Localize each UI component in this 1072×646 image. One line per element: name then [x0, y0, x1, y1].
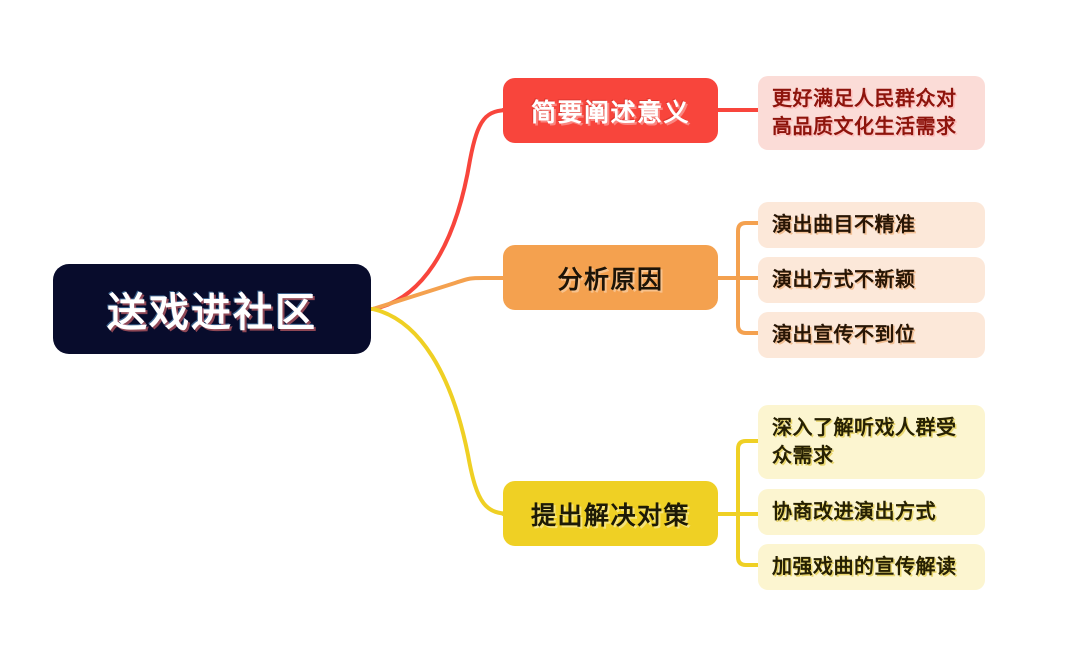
leaf-node-3-2-label: 协商改进演出方式	[772, 498, 936, 526]
connector-branch-3-spine	[738, 441, 758, 565]
leaf-node-3-1[interactable]: 深入了解听戏人群受 众需求	[758, 405, 985, 479]
leaf-node-2-2[interactable]: 演出方式不新颖	[758, 257, 985, 303]
branch-node-2[interactable]: 分析原因	[503, 245, 718, 310]
branch-node-3-label: 提出解决对策	[531, 496, 690, 532]
branch-node-3[interactable]: 提出解决对策	[503, 481, 718, 546]
connector-root-to-branch-2	[373, 278, 503, 309]
branch-node-2-label: 分析原因	[557, 260, 663, 296]
mind-map-canvas: 送戏进社区 简要阐述意义 更好满足人民群众对 高品质文化生活需求 分析原因 演出…	[0, 0, 1072, 646]
leaf-node-3-2[interactable]: 协商改进演出方式	[758, 489, 985, 535]
leaf-node-3-3[interactable]: 加强戏曲的宣传解读	[758, 544, 985, 590]
leaf-node-3-1-label: 深入了解听戏人群受 众需求	[772, 414, 957, 470]
connector-root-to-branch-1	[373, 110, 510, 309]
leaf-node-2-2-label: 演出方式不新颖	[772, 266, 916, 294]
connector-branch-2-spine	[738, 223, 758, 333]
leaf-node-1-1-label: 更好满足人民群众对 高品质文化生活需求	[772, 85, 957, 141]
connector-root-to-branch-3	[373, 309, 512, 514]
leaf-node-2-3[interactable]: 演出宣传不到位	[758, 312, 985, 358]
root-node-label: 送戏进社区	[107, 280, 317, 338]
leaf-node-2-1-label: 演出曲目不精准	[772, 211, 916, 239]
leaf-node-2-1[interactable]: 演出曲目不精准	[758, 202, 985, 248]
branch-node-1-label: 简要阐述意义	[531, 93, 690, 129]
root-node[interactable]: 送戏进社区	[53, 264, 371, 354]
leaf-node-3-3-label: 加强戏曲的宣传解读	[772, 553, 957, 581]
leaf-node-2-3-label: 演出宣传不到位	[772, 321, 916, 349]
leaf-node-1-1[interactable]: 更好满足人民群众对 高品质文化生活需求	[758, 76, 985, 150]
branch-node-1[interactable]: 简要阐述意义	[503, 78, 718, 143]
